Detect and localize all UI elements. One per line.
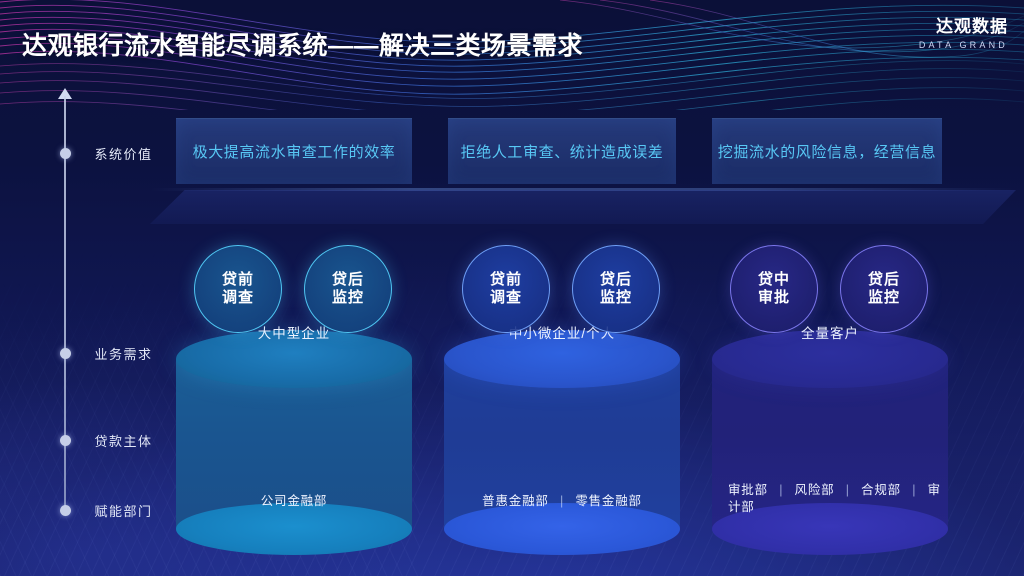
axis-row-business-demand: 业务需求 — [64, 344, 153, 363]
axis-label: 系统价值 — [95, 144, 153, 163]
axis-row-enabled-department: 赋能部门 — [64, 501, 153, 520]
axis-row-loan-subject: 贷款主体 — [64, 431, 153, 450]
axis-dot-icon — [60, 435, 71, 446]
page-title: 达观银行流水智能尽调系统——解决三类场景需求 — [22, 26, 583, 62]
bubble-line-2: 调查 — [222, 289, 254, 307]
cylinder-body — [176, 330, 412, 520]
bubble-line-2: 调查 — [490, 289, 522, 307]
bubble-line-1: 贷前 — [222, 271, 254, 289]
scenario-bubble-post-loan[interactable]: 贷后 监控 — [572, 245, 660, 333]
bubble-line-1: 贷中 — [758, 271, 790, 289]
cylinder-body — [444, 330, 680, 520]
slide-canvas: 达观银行流水智能尽调系统——解决三类场景需求 达观数据 DATA GRAND 系… — [0, 0, 1024, 576]
value-box-3[interactable]: 挖掘流水的风险信息，经营信息 — [712, 118, 942, 184]
bubble-line-2: 监控 — [332, 289, 364, 307]
bubble-line-2: 监控 — [868, 289, 900, 307]
axis-label: 贷款主体 — [95, 431, 153, 450]
value-box-2[interactable]: 拒绝人工审查、统计造成误差 — [448, 118, 676, 184]
bubble-line-1: 贷后 — [332, 271, 364, 289]
bubble-line-2: 监控 — [600, 289, 632, 307]
cylinder-bottom-ellipse — [444, 503, 680, 555]
scenario-column-3[interactable]: 全量客户 审批部 | 风险部 | 合规部 | 审计部 贷中 审批 贷后 监控 — [712, 300, 948, 530]
bubble-line-1: 贷后 — [868, 271, 900, 289]
scenario-bubble-in-loan[interactable]: 贷中 审批 — [730, 245, 818, 333]
cylinder-bottom-ellipse — [712, 503, 948, 555]
logo-text-en: DATA GRAND — [919, 40, 1008, 50]
bubble-line-1: 贷后 — [600, 271, 632, 289]
value-box-1[interactable]: 极大提高流水审查工作的效率 — [176, 118, 412, 184]
cylinder-top-ellipse — [176, 330, 412, 388]
axis-dot-icon — [60, 505, 71, 516]
axis-row-system-value: 系统价值 — [64, 144, 153, 163]
scenario-bubble-post-loan[interactable]: 贷后 监控 — [304, 245, 392, 333]
bubble-line-1: 贷前 — [490, 271, 522, 289]
scenario-column-1[interactable]: 大中型企业 公司金融部 贷前 调查 贷后 监控 — [176, 300, 412, 530]
platform-plane — [150, 190, 1016, 224]
axis-dot-icon — [60, 348, 71, 359]
scenario-bubble-post-loan[interactable]: 贷后 监控 — [840, 245, 928, 333]
axis-label: 业务需求 — [95, 344, 153, 363]
cylinder-top-ellipse — [712, 330, 948, 388]
axis-label: 赋能部门 — [95, 501, 153, 520]
scenario-bubble-pre-loan[interactable]: 贷前 调查 — [194, 245, 282, 333]
bubble-line-2: 审批 — [758, 289, 790, 307]
cylinder-bottom-ellipse — [176, 503, 412, 555]
cylinder-body — [712, 330, 948, 520]
cylinder-top-ellipse — [444, 330, 680, 388]
axis-dot-icon — [60, 148, 71, 159]
scenario-column-2[interactable]: 中小微企业/个人 普惠金融部 | 零售金融部 贷前 调查 贷后 监控 — [444, 300, 680, 530]
brand-logo: 达观数据 DATA GRAND — [919, 18, 1008, 50]
scenario-bubble-pre-loan[interactable]: 贷前 调查 — [462, 245, 550, 333]
logo-text-cn: 达观数据 — [919, 18, 1008, 37]
